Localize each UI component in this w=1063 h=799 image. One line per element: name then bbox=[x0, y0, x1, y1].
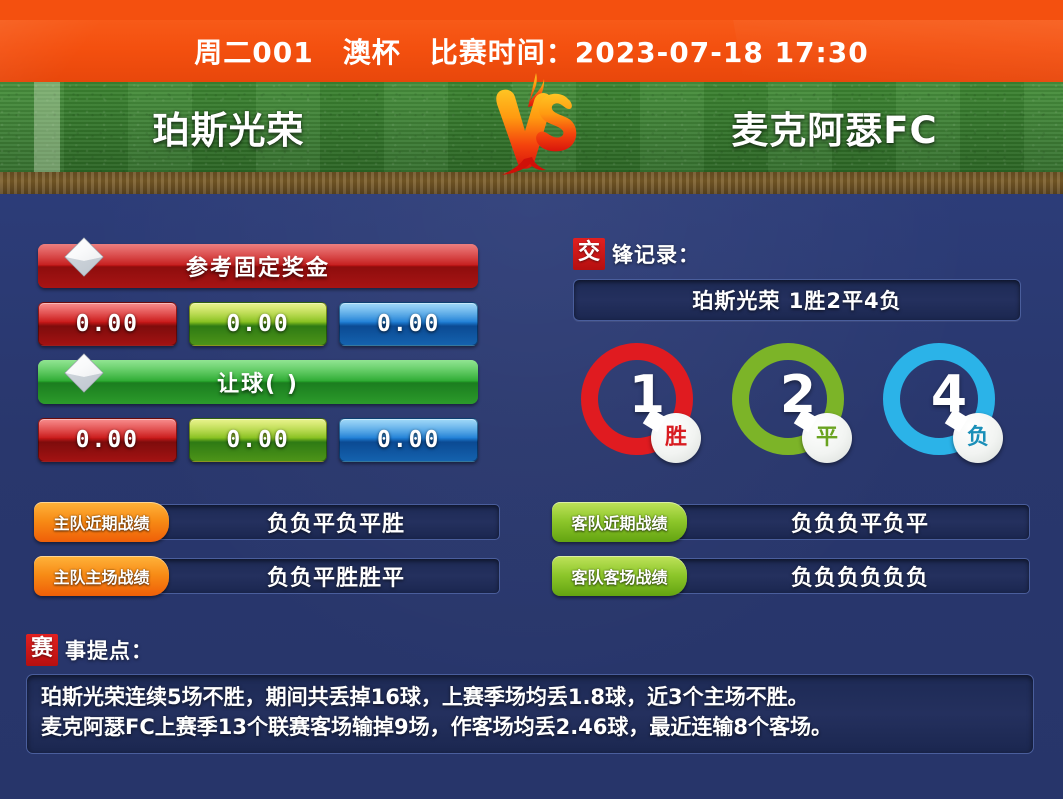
away-team-name: 麦克阿瑟FC bbox=[580, 100, 1050, 154]
tips-line: 麦克阿瑟FC上赛季13个联赛客场输掉9场，作客场均丢2.46球，最近连输8个客场… bbox=[41, 713, 1019, 743]
odds-panel: 参考固定奖金 0.00 0.00 0.00 bbox=[38, 244, 478, 462]
tips-content-box: 珀斯光荣连续5场不胜，期间共丢掉16球，上赛季场均丢1.8球，近3个主场不胜。 … bbox=[26, 674, 1034, 754]
away-away-form-label: 客队客场战绩 bbox=[571, 564, 667, 588]
ring-loss-badge: 负 bbox=[953, 413, 1003, 463]
home-team-name: 珀斯光荣 bbox=[14, 100, 484, 154]
tips-badge: 赛 bbox=[26, 634, 58, 666]
stats-body: 参考固定奖金 0.00 0.00 0.00 bbox=[0, 194, 1063, 799]
home-home-form-row: 主队主场战绩 负负平胜胜平 bbox=[34, 554, 500, 598]
diamond-icon bbox=[62, 235, 106, 279]
head-to-head-heading: 交 锋记录： bbox=[573, 238, 1021, 270]
fixed-odds-away-button[interactable]: 0.00 bbox=[339, 302, 478, 346]
home-recent-form-value: 负负平负平胜 bbox=[267, 506, 405, 538]
tips-panel: 赛 事提点： 珀斯光荣连续5场不胜，期间共丢掉16球，上赛季场均丢1.8球，近3… bbox=[26, 634, 1034, 754]
home-home-form-label: 主队主场战绩 bbox=[53, 564, 149, 588]
head-to-head-rings: 1 胜 2 平 bbox=[573, 343, 1021, 473]
handicap-draw-button[interactable]: 0.00 bbox=[189, 418, 328, 462]
away-away-form-bar: 负负负负负负 bbox=[660, 558, 1030, 594]
ring-loss-label: 负 bbox=[967, 427, 989, 449]
away-recent-form-row: 客队近期战绩 负负负平负平 bbox=[552, 500, 1030, 544]
head-to-head-label: 锋记录： bbox=[612, 239, 700, 269]
away-away-form-value: 负负负负负负 bbox=[791, 560, 929, 592]
away-recent-form-tag: 客队近期战绩 bbox=[552, 502, 687, 542]
home-home-form-tag: 主队主场战绩 bbox=[34, 556, 169, 596]
home-recent-form-row: 主队近期战绩 负负平负平胜 bbox=[34, 500, 500, 544]
ring-win-badge: 胜 bbox=[651, 413, 701, 463]
tips-label: 事提点： bbox=[65, 635, 153, 665]
handicap-away-button[interactable]: 0.00 bbox=[339, 418, 478, 462]
fixed-odds-values-row: 0.00 0.00 0.00 bbox=[38, 302, 478, 346]
away-recent-form-label: 客队近期战绩 bbox=[571, 510, 667, 534]
fixed-odds-title: 参考固定奖金 bbox=[186, 250, 330, 282]
handicap-draw-value: 0.00 bbox=[226, 427, 289, 453]
tips-heading: 赛 事提点： bbox=[26, 634, 1034, 666]
handicap-values-row: 0.00 0.00 0.00 bbox=[38, 418, 478, 462]
away-away-form-tag: 客队客场战绩 bbox=[552, 556, 687, 596]
tips-line: 珀斯光荣连续5场不胜，期间共丢掉16球，上赛季场均丢1.8球，近3个主场不胜。 bbox=[41, 683, 1019, 713]
away-away-form-row: 客队客场战绩 负负负负负负 bbox=[552, 554, 1030, 598]
match-header-title: 周二001 澳杯 比赛时间：2023-07-18 17:30 bbox=[194, 31, 868, 71]
fixed-odds-away-value: 0.00 bbox=[377, 311, 440, 337]
ring-win-label: 胜 bbox=[665, 427, 687, 449]
handicap-home-button[interactable]: 0.00 bbox=[38, 418, 177, 462]
home-recent-form-tag: 主队近期战绩 bbox=[34, 502, 169, 542]
home-home-form-value: 负负平胜胜平 bbox=[267, 560, 405, 592]
handicap-away-value: 0.00 bbox=[377, 427, 440, 453]
away-recent-form-value: 负负负平负平 bbox=[791, 506, 929, 538]
home-recent-form-bar: 负负平负平胜 bbox=[142, 504, 500, 540]
handicap-home-value: 0.00 bbox=[76, 427, 139, 453]
ring-draw: 2 平 bbox=[732, 343, 862, 473]
head-to-head-badge: 交 bbox=[573, 238, 605, 270]
fixed-odds-home-value: 0.00 bbox=[76, 311, 139, 337]
away-form-panel: 客队近期战绩 负负负平负平 客队客场战绩 负负负负负负 bbox=[552, 500, 1030, 608]
home-recent-form-label: 主队近期战绩 bbox=[53, 510, 149, 534]
ring-win: 1 胜 bbox=[581, 343, 711, 473]
head-to-head-panel: 交 锋记录： 珀斯光荣 1胜2平4负 1 胜 bbox=[573, 238, 1021, 473]
home-home-form-bar: 负负平胜胜平 bbox=[142, 558, 500, 594]
fixed-odds-draw-button[interactable]: 0.00 bbox=[189, 302, 328, 346]
fixed-odds-header: 参考固定奖金 bbox=[38, 244, 478, 288]
ring-draw-label: 平 bbox=[816, 427, 838, 449]
head-to-head-summary-bar: 珀斯光荣 1胜2平4负 bbox=[573, 279, 1021, 321]
home-form-panel: 主队近期战绩 负负平负平胜 主队主场战绩 负负平胜胜平 bbox=[34, 500, 500, 608]
header-sheen-left bbox=[0, 20, 198, 82]
ring-loss: 4 负 bbox=[883, 343, 1013, 473]
diamond-icon bbox=[62, 351, 106, 395]
vs-icon bbox=[484, 77, 580, 177]
head-to-head-summary: 珀斯光荣 1胜2平4负 bbox=[692, 285, 901, 315]
team-matchup-row: 珀斯光荣 麦 bbox=[0, 82, 1063, 172]
away-recent-form-bar: 负负负平负平 bbox=[660, 504, 1030, 540]
match-preview-card: 周二001 澳杯 比赛时间：2023-07-18 17:30 珀斯光荣 bbox=[0, 0, 1063, 799]
header-top-fill bbox=[0, 0, 1063, 20]
handicap-header: 让球( ) bbox=[38, 360, 478, 404]
fixed-odds-draw-value: 0.00 bbox=[226, 311, 289, 337]
fixed-odds-home-button[interactable]: 0.00 bbox=[38, 302, 177, 346]
ring-draw-badge: 平 bbox=[802, 413, 852, 463]
handicap-title: 让球( ) bbox=[217, 366, 299, 398]
